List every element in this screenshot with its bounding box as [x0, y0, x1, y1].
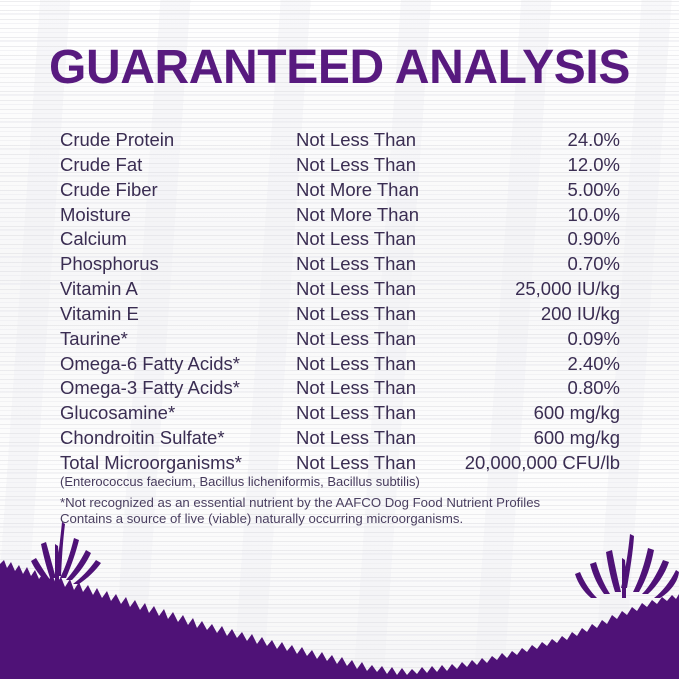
nutrient-value: 2.40%	[458, 352, 620, 377]
footnote-line-1: *Not recognized as an essential nutrient…	[60, 495, 540, 511]
nutrient-value: 5.00%	[458, 178, 620, 203]
nutrient-qualifier: Not Less Than	[296, 376, 458, 401]
nutrient-name: Omega-3 Fatty Acids*	[60, 376, 296, 401]
nutrient-qualifier: Not Less Than	[296, 302, 458, 327]
table-row: Glucosamine*Not Less Than600 mg/kg	[60, 401, 620, 426]
table-row: Omega-6 Fatty Acids*Not Less Than2.40%	[60, 352, 620, 377]
nutrient-name: Phosphorus	[60, 252, 296, 277]
table-row: CalciumNot Less Than0.90%	[60, 227, 620, 252]
nutrient-value: 10.0%	[458, 203, 620, 228]
nutrient-name: Moisture	[60, 203, 296, 228]
nutrient-value: 0.70%	[458, 252, 620, 277]
nutrient-value: 0.09%	[458, 327, 620, 352]
nutrient-name: Glucosamine*	[60, 401, 296, 426]
table-row: Crude FatNot Less Than12.0%	[60, 153, 620, 178]
nutrient-qualifier: Not Less Than	[296, 153, 458, 178]
nutrient-qualifier: Not Less Than	[296, 426, 458, 451]
table-row: PhosphorusNot Less Than0.70%	[60, 252, 620, 277]
grass-silhouette-icon	[0, 514, 679, 679]
nutrient-name: Taurine*	[60, 327, 296, 352]
nutrient-value: 20,000,000 CFU/lb	[458, 451, 620, 476]
nutrient-value: 25,000 IU/kg	[458, 277, 620, 302]
nutrient-name: Vitamin A	[60, 277, 296, 302]
nutrient-qualifier: Not More Than	[296, 203, 458, 228]
guaranteed-analysis-table: Crude ProteinNot Less Than24.0%Crude Fat…	[60, 128, 620, 476]
nutrient-qualifier: Not Less Than	[296, 227, 458, 252]
grass-shape	[0, 522, 679, 679]
nutrient-value: 600 mg/kg	[458, 401, 620, 426]
nutrient-name: Calcium	[60, 227, 296, 252]
nutrient-value: 200 IU/kg	[458, 302, 620, 327]
nutrient-qualifier: Not Less Than	[296, 352, 458, 377]
nutrient-value: 600 mg/kg	[458, 426, 620, 451]
nutrient-value: 0.80%	[458, 376, 620, 401]
nutrient-name: Vitamin E	[60, 302, 296, 327]
table-row: Vitamin ANot Less Than25,000 IU/kg	[60, 277, 620, 302]
nutrient-value: 12.0%	[458, 153, 620, 178]
guaranteed-analysis-panel: GUARANTEED ANALYSIS Crude ProteinNot Les…	[0, 0, 679, 679]
table-row: Omega-3 Fatty Acids*Not Less Than0.80%	[60, 376, 620, 401]
nutrient-qualifier: Not Less Than	[296, 128, 458, 153]
nutrient-name: Crude Protein	[60, 128, 296, 153]
nutrient-name: Omega-6 Fatty Acids*	[60, 352, 296, 377]
nutrient-qualifier: Not More Than	[296, 178, 458, 203]
nutrient-name: Chondroitin Sulfate*	[60, 426, 296, 451]
table-row: Chondroitin Sulfate*Not Less Than600 mg/…	[60, 426, 620, 451]
nutrient-name: Crude Fat	[60, 153, 296, 178]
nutrient-qualifier: Not Less Than	[296, 327, 458, 352]
table-row: Crude FiberNot More Than5.00%	[60, 178, 620, 203]
nutrient-qualifier: Not Less Than	[296, 252, 458, 277]
nutrient-value: 0.90%	[458, 227, 620, 252]
nutrient-qualifier: Not Less Than	[296, 277, 458, 302]
nutrient-value: 24.0%	[458, 128, 620, 153]
probiotic-strains-note: (Enterococcus faecium, Bacillus lichenif…	[60, 473, 420, 490]
table-row: Vitamin ENot Less Than200 IU/kg	[60, 302, 620, 327]
table-row: MoistureNot More Than10.0%	[60, 203, 620, 228]
table-row: Crude ProteinNot Less Than24.0%	[60, 128, 620, 153]
page-title: GUARANTEED ANALYSIS	[0, 44, 679, 92]
nutrient-name: Crude Fiber	[60, 178, 296, 203]
nutrient-qualifier: Not Less Than	[296, 401, 458, 426]
table-row: Taurine*Not Less Than0.09%	[60, 327, 620, 352]
